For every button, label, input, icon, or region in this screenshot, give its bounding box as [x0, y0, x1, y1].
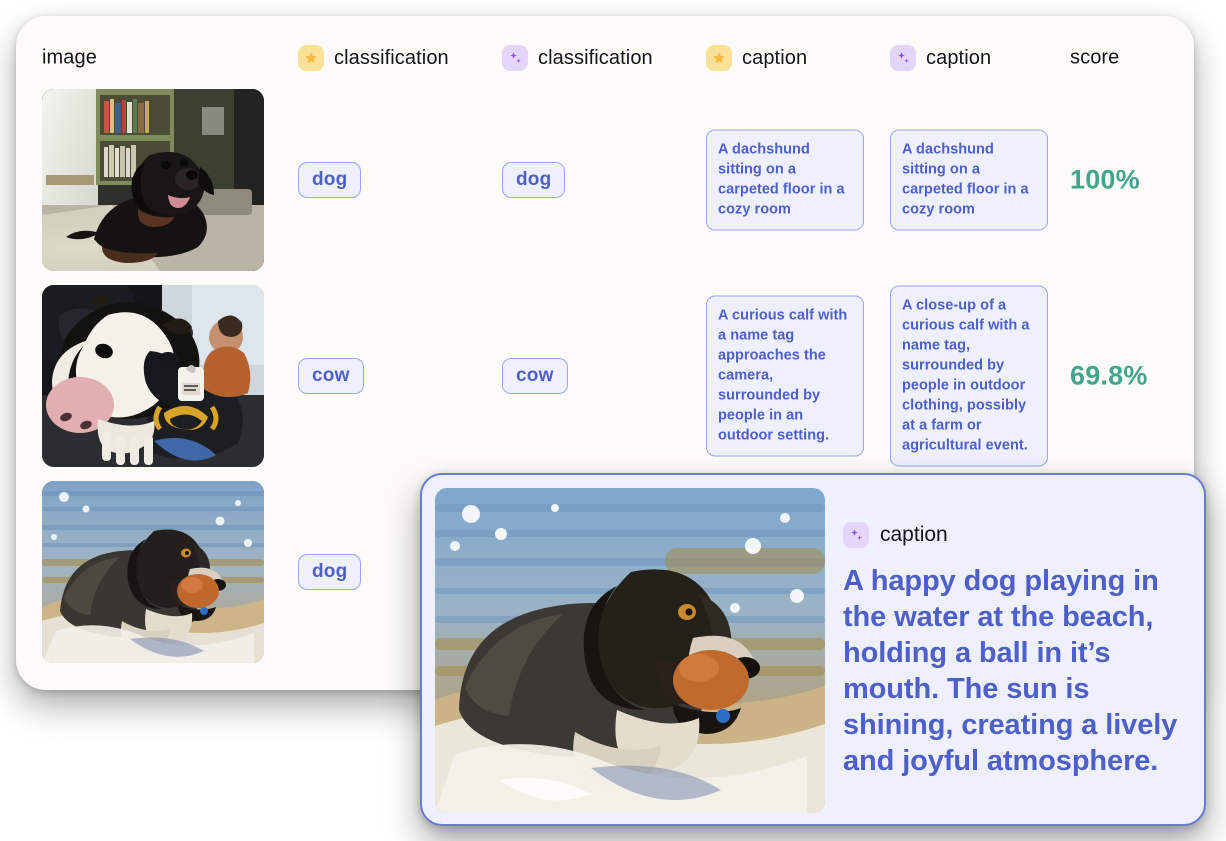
caption-box[interactable]: A dachshund sitting on a carpeted floor … [890, 130, 1048, 231]
classification-tag[interactable]: dog [502, 162, 565, 198]
classification-tag[interactable]: dog [298, 554, 361, 590]
score-cell: 69.8% [1070, 361, 1148, 392]
column-header-label: classification [334, 47, 449, 70]
classification-sparkle-cell: cow [502, 358, 568, 394]
table-row: cow cow A curious calf with a name tag a… [16, 278, 1194, 474]
column-header-label: score [1070, 47, 1119, 70]
caption-star-cell: A curious calf with a name tag approache… [706, 296, 864, 457]
sparkle-icon [843, 522, 869, 548]
score-cell: 100% [1070, 165, 1140, 196]
star-icon [706, 45, 732, 71]
column-header-label: caption [742, 47, 807, 70]
classification-star-cell: dog [298, 162, 361, 198]
detail-header: caption [843, 522, 1191, 548]
detail-label: caption [880, 523, 948, 547]
classification-tag[interactable]: cow [502, 358, 568, 394]
classification-star-cell: cow [298, 358, 364, 394]
row-thumbnail[interactable] [42, 481, 264, 663]
classification-tag[interactable]: cow [298, 358, 364, 394]
detail-image-dog-water [435, 488, 825, 813]
caption-star-cell: A dachshund sitting on a carpeted floor … [706, 130, 864, 231]
image-dog-water [42, 481, 264, 663]
detail-caption-text: A happy dog playing in the water at the … [843, 564, 1191, 780]
caption-box[interactable]: A close-up of a curious calf with a name… [890, 286, 1048, 467]
classification-sparkle-cell: dog [502, 162, 565, 198]
table-header: image classification classification [16, 16, 1194, 82]
row-thumbnail[interactable] [42, 89, 264, 271]
image-dachshund [42, 89, 264, 271]
row-thumbnail[interactable] [42, 285, 264, 467]
column-header-label: classification [538, 47, 653, 70]
column-header-classification-star: classification [298, 45, 449, 71]
detail-body: caption A happy dog playing in the water… [843, 488, 1191, 780]
table-row: dog dog A dachshund sitting on a carpete… [16, 82, 1194, 278]
star-icon [298, 45, 324, 71]
column-header-score: score [1070, 47, 1119, 70]
image-calf [42, 285, 264, 467]
classification-tag[interactable]: dog [298, 162, 361, 198]
caption-sparkle-cell: A close-up of a curious calf with a name… [890, 286, 1048, 467]
sparkle-icon [890, 45, 916, 71]
score-value: 69.8% [1070, 361, 1148, 391]
column-header-caption-sparkle: caption [890, 45, 991, 71]
caption-box[interactable]: A dachshund sitting on a carpeted floor … [706, 130, 864, 231]
column-header-caption-star: caption [706, 45, 807, 71]
caption-box[interactable]: A curious calf with a name tag approache… [706, 296, 864, 457]
column-header-classification-sparkle: classification [502, 45, 653, 71]
column-header-image: image [42, 47, 97, 70]
score-value: 100% [1070, 165, 1140, 195]
column-header-label: caption [926, 47, 991, 70]
caption-sparkle-cell: A dachshund sitting on a carpeted floor … [890, 130, 1048, 231]
caption-detail-card: caption A happy dog playing in the water… [420, 473, 1206, 826]
column-header-label: image [42, 47, 97, 70]
classification-star-cell: dog [298, 554, 361, 590]
sparkle-icon [502, 45, 528, 71]
